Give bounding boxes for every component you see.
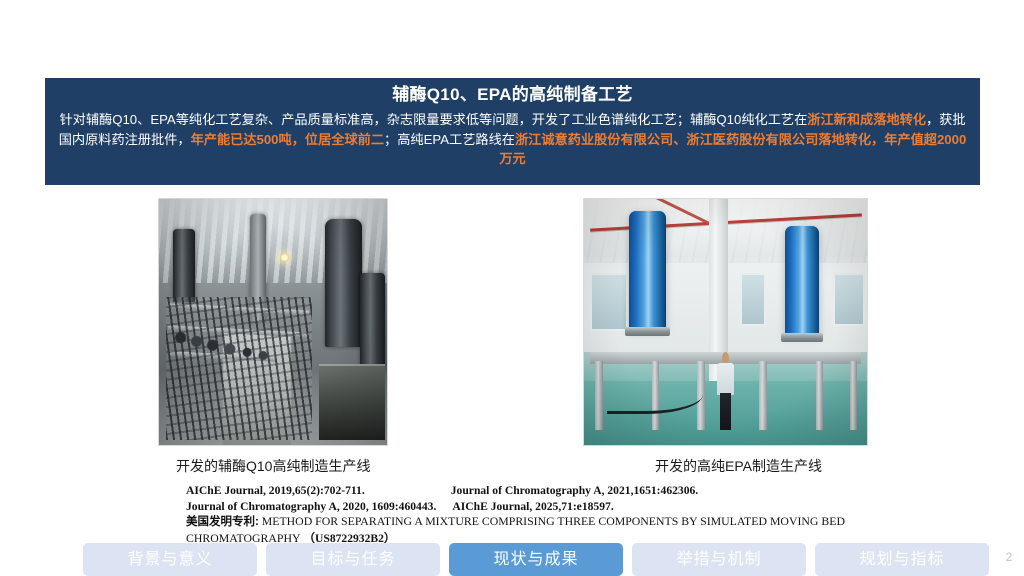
nav-tab-1[interactable]: 背景与意义	[83, 543, 257, 576]
figure-image-epa-line	[583, 198, 868, 446]
nav-tab-4[interactable]: 举措与机制	[632, 543, 806, 576]
summary-highlight: 年产能已达500吨，位居全球前二	[191, 132, 384, 147]
page-title: 辅酶Q10、EPA的高纯制备工艺	[392, 82, 633, 108]
slide-canvas: 辅酶Q10、EPA的高纯制备工艺 针对辅酶Q10、EPA等纯化工艺复杂、产品质量…	[0, 0, 1024, 576]
reference-line-2: Journal of Chromatography A, 2020, 1609:…	[186, 499, 896, 515]
page-number: 2	[1000, 550, 1018, 564]
summary-highlight: 浙江新和成落地转化	[807, 112, 926, 127]
reference-line-1: AIChE Journal, 2019,65(2):702-711.Journa…	[186, 483, 896, 499]
figure-image-coq10-line	[158, 198, 388, 446]
nav-tab-2[interactable]: 目标与任务	[266, 543, 440, 576]
photo-vignette	[584, 199, 867, 445]
nav-tab-5[interactable]: 规划与指标	[815, 543, 989, 576]
reference-jchroma-2021: Journal of Chromatography A, 2021,1651:4…	[451, 484, 698, 497]
reference-jchroma-2020: Journal of Chromatography A, 2020, 1609:…	[186, 500, 436, 513]
figure-caption-epa: 开发的高纯EPA制造生产线	[655, 456, 822, 476]
summary-text: ；高纯EPA工艺路线在	[384, 132, 515, 147]
summary-highlight: 浙江诚意药业股份有限公司、浙江医药股份有限公司落地转化，年产值超2000万元	[499, 132, 966, 167]
patent-label: 美国发明专利:	[186, 516, 259, 528]
patent-title: METHOD FOR SEPARATING A MIXTURE COMPRISI…	[186, 514, 845, 545]
reference-patent: 美国发明专利: METHOD FOR SEPARATING A MIXTURE …	[186, 514, 896, 546]
reference-aiche-2025: AIChE Journal, 2025,71:e18597.	[452, 500, 613, 513]
summary-text: 针对辅酶Q10、EPA等纯化工艺复杂、产品质量标准高，杂志限量要求低等问题，开发…	[59, 112, 807, 127]
summary-paragraph: 针对辅酶Q10、EPA等纯化工艺复杂、产品质量标准高，杂志限量要求低等问题，开发…	[54, 110, 972, 169]
photo-vignette	[159, 199, 387, 445]
section-nav: 背景与意义目标与任务现状与成果举措与机制规划与指标	[83, 543, 989, 576]
title-banner: 辅酶Q10、EPA的高纯制备工艺 针对辅酶Q10、EPA等纯化工艺复杂、产品质量…	[45, 78, 980, 185]
reference-aiche-2019: AIChE Journal, 2019,65(2):702-711.	[186, 484, 365, 497]
nav-tab-3[interactable]: 现状与成果	[449, 543, 623, 576]
figure-caption-coq10: 开发的辅酶Q10高纯制造生产线	[176, 456, 370, 476]
references-block: AIChE Journal, 2019,65(2):702-711.Journa…	[186, 483, 896, 546]
